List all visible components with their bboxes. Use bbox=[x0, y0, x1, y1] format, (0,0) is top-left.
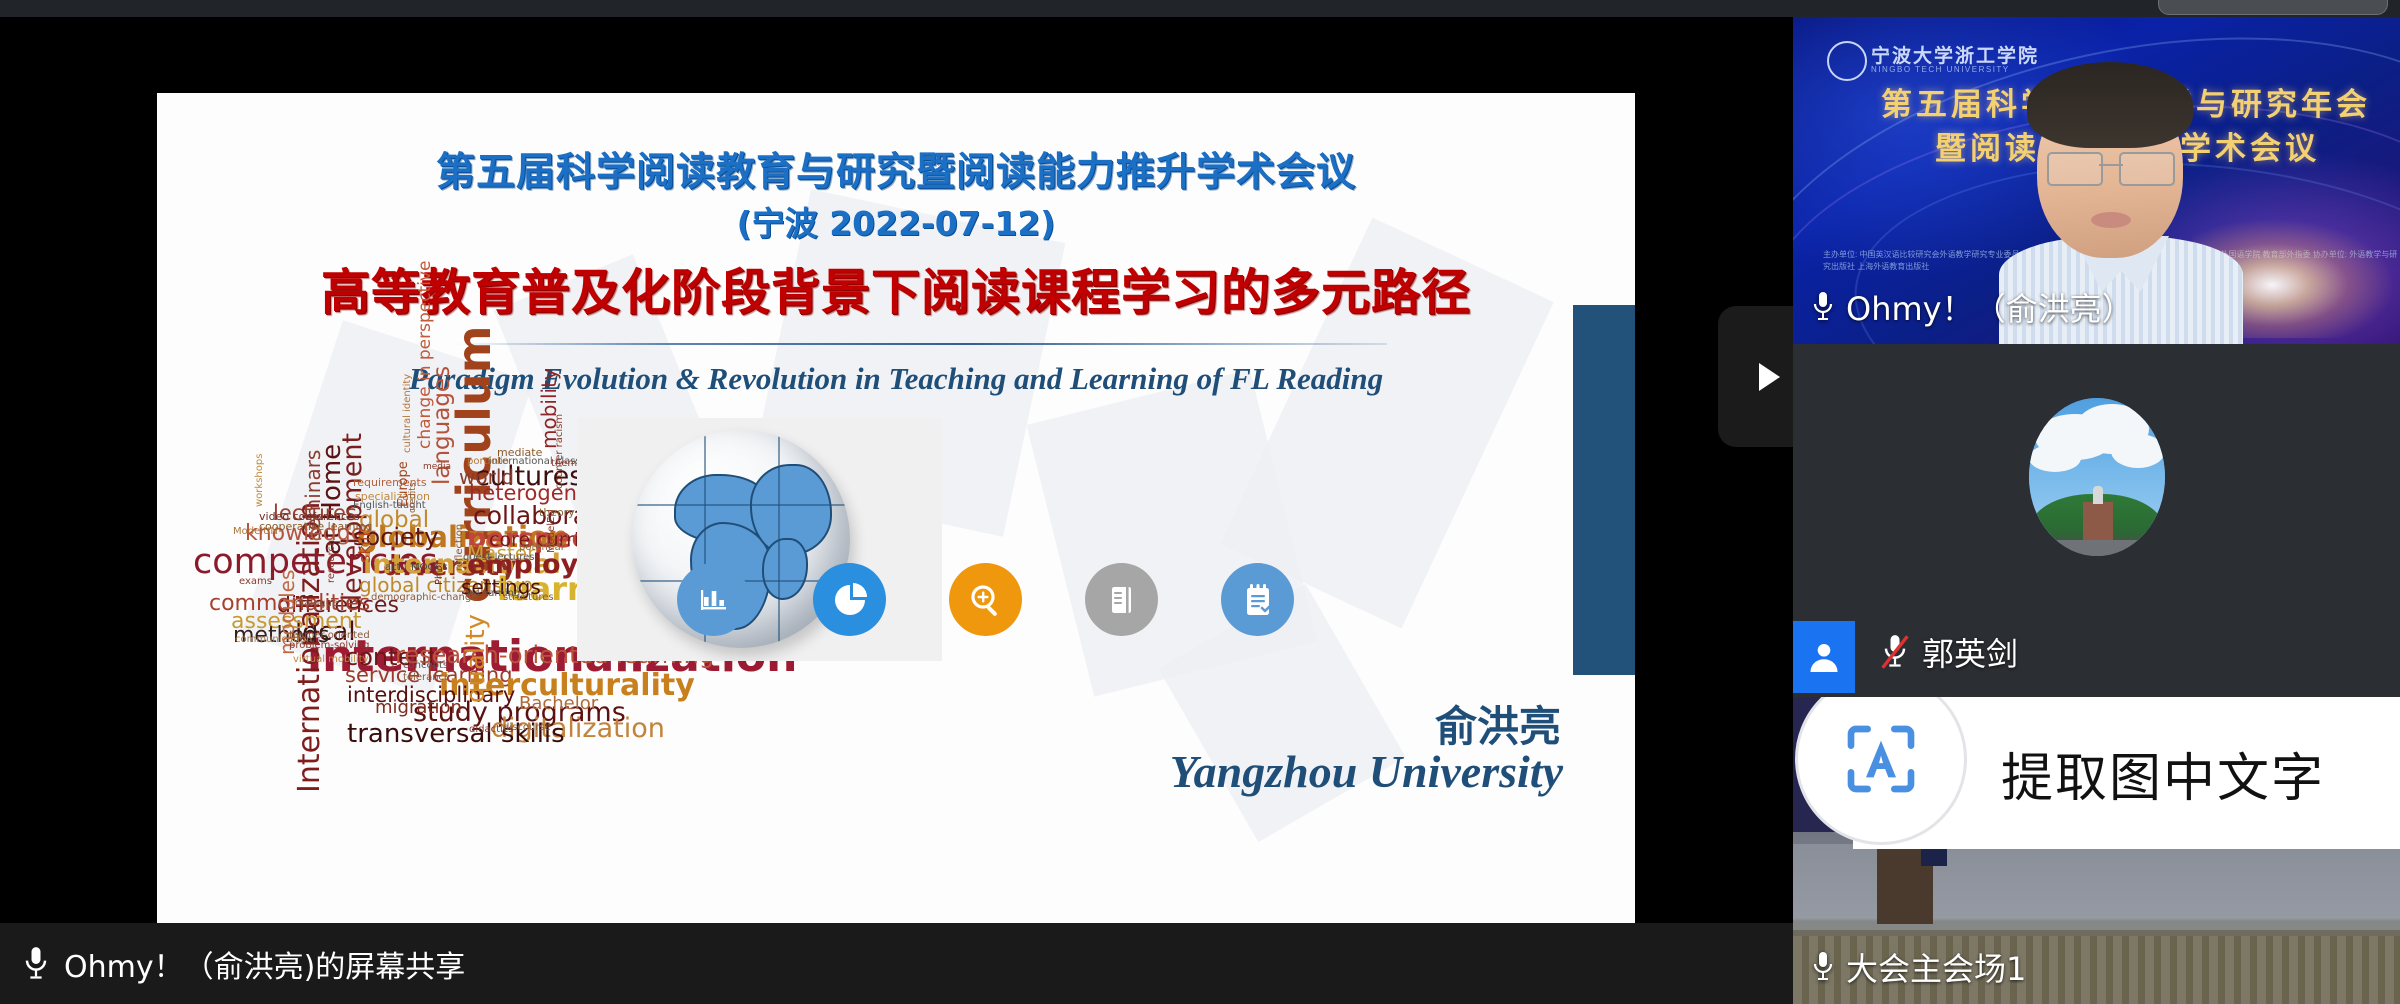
word-cloud-term: demographic-change bbox=[371, 593, 477, 603]
word-cloud-term: problem-solving bbox=[289, 641, 369, 651]
slide-icon-row bbox=[677, 563, 1517, 653]
title-divider bbox=[457, 343, 1387, 345]
slide-english-subtitle: Paradigm Evolution & Revolution in Teach… bbox=[157, 361, 1635, 397]
university-logo-icon bbox=[1827, 41, 1867, 81]
backdrop-logo-subtext: NINGBO TECH UNIVERSITY bbox=[1871, 65, 2010, 74]
pie-chart-icon bbox=[813, 563, 886, 636]
word-cloud-term: exams bbox=[239, 577, 272, 587]
microphone-icon bbox=[22, 946, 50, 982]
word-cloud-term: Bachelor bbox=[519, 695, 598, 713]
microphone-muted-icon bbox=[1879, 634, 1911, 670]
extract-text-toast[interactable]: 提取图中文字 bbox=[1853, 697, 2400, 849]
word-cloud-term: ModelEU bbox=[547, 509, 557, 553]
bar-chart-icon bbox=[677, 563, 750, 636]
word-cloud-term: migration bbox=[375, 699, 462, 717]
word-cloud-image: internationalizationcurriculumInternatio… bbox=[167, 403, 597, 823]
word-cloud-term: change in perspective bbox=[417, 261, 434, 449]
video-tile-main-hall[interactable]: 提取图中文字 大会主会场1 bbox=[1793, 697, 2400, 1004]
slide-main-title: 高等教育普及化阶段背景下阅读课程学习的多元路径 bbox=[157, 253, 1635, 324]
expand-sidebar-button[interactable] bbox=[1718, 306, 1804, 447]
conference-title: 第五届科学阅读教育与研究暨阅读能力推升学术会议 bbox=[157, 141, 1635, 197]
video-tile-speaker[interactable]: 宁波大学浙工学院 NINGBO TECH UNIVERSITY 第五届科学阅读教… bbox=[1793, 17, 2400, 344]
word-cloud-term: portfolio bbox=[467, 457, 509, 467]
microphone-icon bbox=[1811, 291, 1835, 323]
word-cloud-term: guest-lectures bbox=[463, 553, 535, 563]
share-status-bar: Ohmy！（俞洪亮)的屏幕共享 bbox=[0, 923, 1793, 1004]
presenter-affiliation-en: Yangzhou University bbox=[1170, 745, 1563, 798]
word-cloud-term: structures bbox=[503, 593, 554, 603]
participant-sidebar: 宁波大学浙工学院 NINGBO TECH UNIVERSITY 第五届科学阅读教… bbox=[1793, 17, 2400, 1004]
tile-name-label: Ohmy！（俞洪亮） bbox=[1811, 284, 2134, 330]
video-tile-participant[interactable]: 郭英剑 bbox=[1793, 348, 2400, 693]
word-cloud-term: quality bbox=[463, 614, 489, 703]
word-cloud-term: concepts bbox=[403, 661, 448, 671]
tile-name-label: 郭英剑 bbox=[1879, 629, 2018, 675]
word-cloud-term: research bbox=[327, 540, 337, 583]
participant-name: 大会主会场1 bbox=[1846, 944, 2026, 990]
screen-share-stage: 第五届科学阅读教育与研究暨阅读能力推升学术会议 (宁波 2022-07-12) … bbox=[0, 17, 1793, 923]
extract-text-label: 提取图中文字 bbox=[2001, 736, 2325, 811]
word-cloud-term: act bbox=[385, 563, 401, 573]
word-cloud-term: counter racism bbox=[555, 414, 565, 489]
word-cloud-term: dialogue bbox=[295, 599, 338, 609]
microphone-icon bbox=[1811, 951, 1835, 983]
word-cloud-term: workshops bbox=[255, 454, 265, 507]
word-cloud-term: ModelUN bbox=[233, 527, 278, 537]
word-cloud-term: reflection bbox=[455, 524, 465, 571]
book-icon bbox=[1085, 563, 1158, 636]
tile-name-label: 大会主会场1 bbox=[1811, 944, 2026, 990]
person-icon bbox=[1793, 621, 1855, 693]
word-cloud-term: world bbox=[459, 467, 514, 487]
share-status-text: Ohmy！（俞洪亮)的屏幕共享 bbox=[64, 942, 465, 986]
magnifier-plus-icon bbox=[949, 563, 1022, 636]
clipboard-check-icon bbox=[1221, 563, 1294, 636]
shared-slide: 第五届科学阅读教育与研究暨阅读能力推升学术会议 (宁波 2022-07-12) … bbox=[157, 93, 1635, 923]
word-cloud-term: cultural identity bbox=[403, 374, 413, 453]
conference-subtitle: (宁波 2022-07-12) bbox=[157, 197, 1635, 245]
participant-name: 郭英剑 bbox=[1922, 629, 2018, 675]
word-cloud-term: tolerance bbox=[403, 673, 450, 683]
window-topbar bbox=[0, 0, 2400, 17]
slide-accent-bar bbox=[1573, 305, 1635, 675]
word-cloud-term: media bbox=[423, 463, 451, 472]
participant-name: Ohmy！（俞洪亮） bbox=[1846, 284, 2134, 330]
avatar bbox=[2029, 398, 2165, 556]
play-triangle-right-icon bbox=[1759, 363, 1780, 391]
word-cloud-term: PhD bbox=[435, 565, 445, 585]
zoom-meeting-window: 第五届科学阅读教育与研究暨阅读能力推升学术会议 (宁波 2022-07-12) … bbox=[0, 0, 2400, 1004]
word-cloud-term: discourse bbox=[503, 723, 551, 733]
meeting-toolbar-pill[interactable] bbox=[2158, 0, 2388, 15]
word-cloud-term: credits bbox=[409, 483, 418, 513]
word-cloud-term: virtual mobility bbox=[293, 655, 369, 665]
